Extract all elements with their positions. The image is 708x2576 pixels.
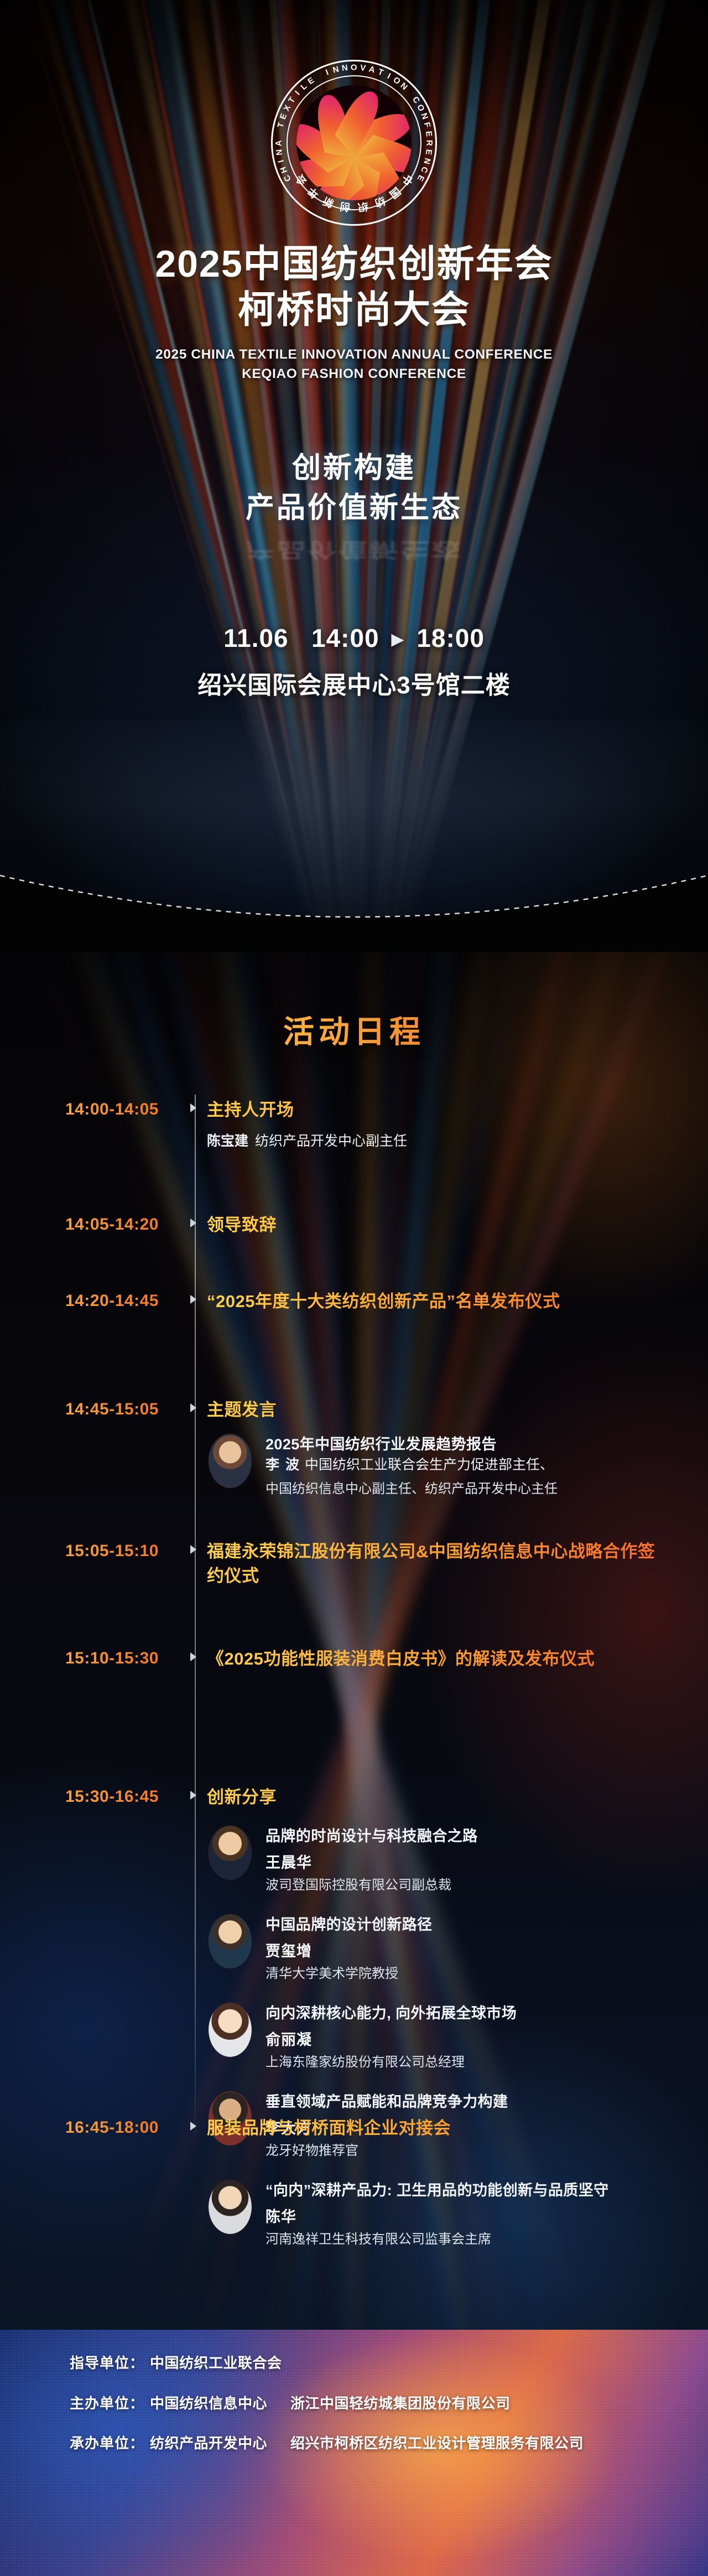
- speaker-name: 俞丽凝: [265, 2028, 683, 2049]
- theme-line-1: 创新构建: [292, 452, 416, 484]
- host-unit-label: 主办单位：: [70, 2394, 144, 2413]
- organizer-unit-value-1: 纺织产品开发中心: [150, 2434, 267, 2453]
- agenda-item-title: 福建永荣锦江股份有限公司&中国纺织信息中心战略合作签约仪式: [207, 1540, 671, 1588]
- section-divider-curve: [0, 853, 708, 952]
- caret-right-icon: [190, 1295, 196, 1304]
- title-line-1: 2025中国纺织创新年会: [155, 243, 553, 285]
- speaker-topic: 向内深耕核心能力, 向外拓展全球市场: [265, 2003, 683, 2023]
- avatar-photo: [209, 1434, 252, 1488]
- speaker-topic: 品牌的时尚设计与科技融合之路: [265, 1826, 683, 1846]
- speaker-org: 波司登国际控股有限公司副总裁: [265, 1876, 683, 1895]
- speaker-org: 河南逸祥卫生科技有限公司监事会主席: [265, 2230, 683, 2249]
- host-unit-value-2: 浙江中国轻纺城集团股份有限公司: [290, 2394, 511, 2413]
- logo-chinese-arc-text: 中国纺织创新年会: [271, 60, 437, 226]
- agenda-section: 活动日程 14:00-14:05主持人开场陈宝建纺织产品开发中心副主任14:05…: [0, 952, 708, 2330]
- host-unit-value-1: 中国纺织信息中心: [150, 2394, 267, 2413]
- agenda-item-title: 服装品牌与柯桥面料企业对接会: [207, 2116, 671, 2140]
- event-venue: 绍兴国际会展中心3号馆二楼: [197, 665, 510, 701]
- page-title: 2025中国纺织创新年会 柯桥时尚大会: [155, 241, 553, 333]
- speaker-topic: 垂直领域产品赋能和品牌竞争力构建: [265, 2092, 683, 2112]
- guide-unit-row: 指导单位： 中国纺织工业联合会: [70, 2354, 584, 2372]
- speaker-block: “向内”深耕产品力: 卫生用品的功能创新与品质坚守陈华河南逸祥卫生科技有限公司监…: [207, 2178, 683, 2249]
- agenda-item-title: 领导致辞: [207, 1213, 671, 1237]
- agenda-item-title: 《2025功能性服装消费白皮书》的解读及发布仪式: [207, 1647, 671, 1671]
- speaker-topic: 2025年中国纺织行业发展趋势报告: [265, 1434, 683, 1454]
- avatar: [207, 1912, 253, 1970]
- avatar: [207, 2001, 253, 2059]
- guide-unit-value: 中国纺织工业联合会: [150, 2354, 282, 2372]
- organizer-unit-value-2: 绍兴市柯桥区纺织工业设计管理服务有限公司: [290, 2434, 584, 2453]
- avatar: [207, 1824, 253, 1882]
- agenda-item-host: 陈宝建纺织产品开发中心副主任: [207, 1131, 671, 1152]
- avatar-photo: [209, 1914, 252, 1968]
- agenda-item-title: 主题发言: [207, 1398, 671, 1422]
- speaker-org: 龙牙好物推荐官: [265, 2142, 683, 2160]
- event-datetime: 11.06 14:00 ▶ 18:00: [223, 623, 485, 653]
- speaker-block: 2025年中国纺织行业发展趋势报告李 波中国纺织工业联合会生产力促进部主任、中国…: [207, 1432, 683, 1499]
- speaker-name: 贾玺增: [265, 1939, 683, 1961]
- speaker-org: 上海东隆家纺股份有限公司总经理: [265, 2053, 683, 2072]
- agenda-item-time: 16:45-18:00: [65, 2118, 188, 2137]
- caret-right-icon: [190, 1545, 196, 1554]
- arrow-right-icon: ▶: [391, 630, 404, 649]
- event-date: 11.06: [223, 624, 289, 652]
- agenda-heading: 活动日程: [0, 1007, 708, 1052]
- page-title-english: 2025 CHINA TEXTILE INNOVATION ANNUAL CON…: [155, 345, 553, 384]
- title-en-line-2: KEQIAO FASHION CONFERENCE: [242, 366, 466, 381]
- speaker-block: 向内深耕核心能力, 向外拓展全球市场俞丽凝上海东隆家纺股份有限公司总经理: [207, 2001, 683, 2072]
- agenda-item-time: 15:05-15:10: [65, 1542, 188, 1561]
- hero-section: CHINA TEXTILE INNOVATION CONFERENCE 中国纺织…: [0, 0, 708, 952]
- avatar-photo: [209, 1826, 252, 1880]
- caret-right-icon: [190, 1403, 196, 1412]
- agenda-item-title: “2025年度十大类纺织创新产品”名单发布仪式: [207, 1289, 671, 1314]
- agenda-item-time: 15:30-16:45: [65, 1787, 188, 1806]
- organizer-unit-label: 承办单位：: [70, 2434, 144, 2453]
- avatar: [207, 2178, 253, 2236]
- timeline-rail: [195, 1095, 196, 2140]
- agenda-item-time: 14:45-15:05: [65, 1400, 188, 1419]
- speaker-org-line2: 中国纺织信息中心副主任、纺织产品开发中心主任: [265, 1480, 683, 1499]
- speaker-topic: 中国品牌的设计创新路径: [265, 1915, 683, 1935]
- event-time-start: 14:00: [311, 624, 379, 652]
- theme-reflection-decoration: 产品价值新生态: [246, 537, 462, 566]
- speaker-name-and-org: 李 波中国纺织工业联合会生产力促进部主任、: [265, 1454, 683, 1476]
- conference-theme: 创新构建 产品价值新生态: [246, 449, 462, 528]
- title-line-2: 柯桥时尚大会: [238, 289, 470, 331]
- agenda-item-time: 14:00-14:05: [65, 1100, 188, 1119]
- conference-logo: CHINA TEXTILE INNOVATION CONFERENCE 中国纺织…: [271, 60, 437, 226]
- caret-right-icon: [190, 2122, 196, 2131]
- speaker-topic: “向内”深耕产品力: 卫生用品的功能创新与品质坚守: [265, 2180, 683, 2200]
- theme-line-2: 产品价值新生态: [246, 492, 462, 524]
- avatar: [207, 1432, 253, 1490]
- speaker-org: 清华大学美术学院教授: [265, 1965, 683, 1983]
- speaker-block: 中国品牌的设计创新路径贾玺增清华大学美术学院教授: [207, 1912, 683, 1983]
- caret-right-icon: [190, 1219, 196, 1227]
- caret-right-icon: [190, 1791, 196, 1800]
- agenda-item-time: 14:20-14:45: [65, 1292, 188, 1310]
- host-unit-row: 主办单位： 中国纺织信息中心 浙江中国轻纺城集团股份有限公司: [70, 2394, 584, 2413]
- agenda-item-title: 主持人开场: [207, 1098, 671, 1122]
- speaker-name: 陈华: [265, 2205, 683, 2226]
- agenda-item-time: 15:10-15:30: [65, 1649, 188, 1668]
- footer-section: 指导单位： 中国纺织工业联合会 主办单位： 中国纺织信息中心 浙江中国轻纺城集团…: [0, 2330, 708, 2576]
- organizer-unit-row: 承办单位： 纺织产品开发中心 绍兴市柯桥区纺织工业设计管理服务有限公司: [70, 2434, 584, 2453]
- agenda-item-title: 创新分享: [207, 1785, 671, 1810]
- caret-right-icon: [190, 1103, 196, 1112]
- speaker-name: 王晨华: [265, 1851, 683, 1872]
- agenda-item-time: 14:05-14:20: [65, 1215, 188, 1234]
- caret-right-icon: [190, 1652, 196, 1661]
- avatar-photo: [209, 2003, 252, 2057]
- title-en-line-1: 2025 CHINA TEXTILE INNOVATION ANNUAL CON…: [155, 347, 553, 362]
- guide-unit-label: 指导单位：: [70, 2354, 144, 2372]
- speaker-block: 品牌的时尚设计与科技融合之路王晨华波司登国际控股有限公司副总裁: [207, 1824, 683, 1895]
- event-time-end: 18:00: [417, 624, 485, 652]
- avatar-photo: [209, 2180, 252, 2234]
